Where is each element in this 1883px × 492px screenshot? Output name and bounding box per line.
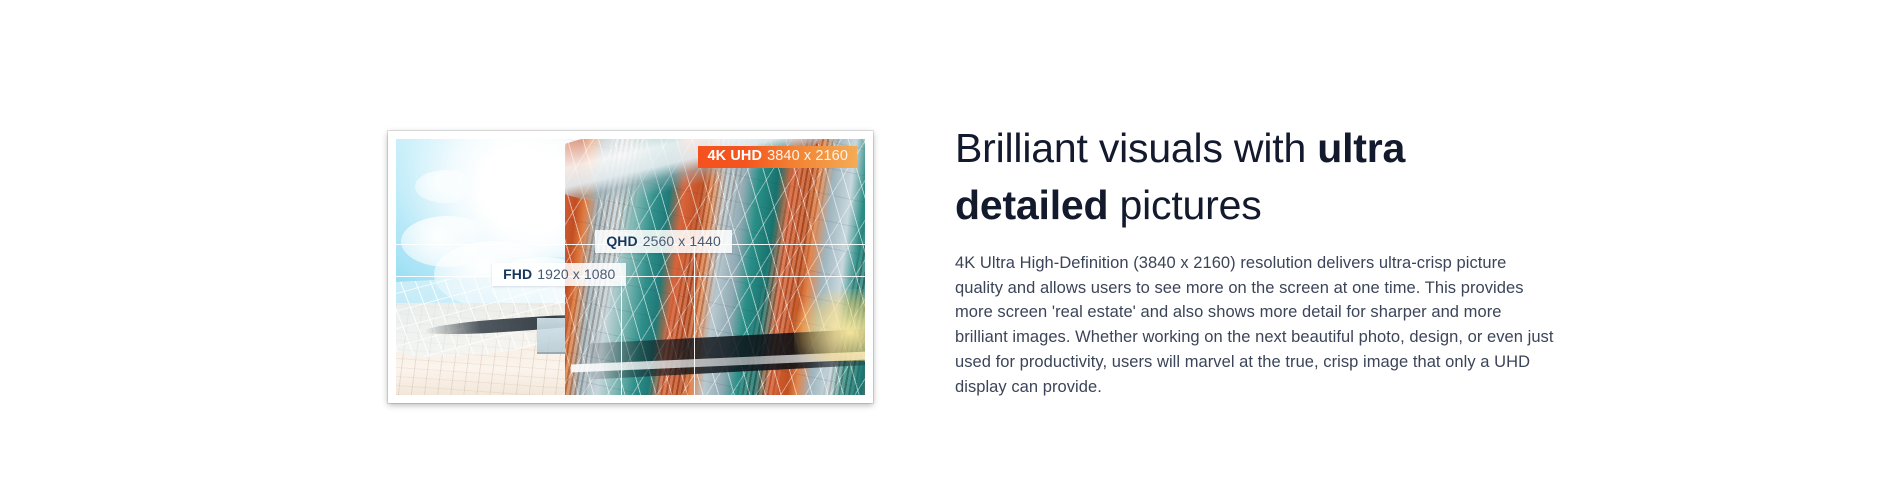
badge-qhd-label: QHD xyxy=(606,234,637,248)
badge-4k-uhd: 4K UHD 3840 x 2160 xyxy=(698,146,857,168)
building-warm-glow xyxy=(794,289,865,361)
badge-qhd: QHD 2560 x 1440 xyxy=(595,230,732,253)
badge-fhd: FHD 1920 x 1080 xyxy=(492,263,626,286)
resolution-photo-frame: 4K UHD 3840 x 2160 QHD 2560 x 1440 FHD 1… xyxy=(388,131,873,403)
headline-trail: pictures xyxy=(1108,182,1261,228)
resolution-photo: 4K UHD 3840 x 2160 QHD 2560 x 1440 FHD 1… xyxy=(396,139,865,395)
badge-4k-uhd-resolution: 3840 x 2160 xyxy=(767,149,848,164)
marketing-feature-section: 4K UHD 3840 x 2160 QHD 2560 x 1440 FHD 1… xyxy=(0,0,1883,492)
fhd-guide-rect xyxy=(396,276,865,277)
cloud xyxy=(415,170,476,203)
feature-headline: Brilliant visuals with ultra detailed pi… xyxy=(955,120,1555,235)
badge-4k-uhd-label: 4K UHD xyxy=(707,149,762,164)
feature-paragraph: 4K Ultra High-Definition (3840 x 2160) r… xyxy=(955,251,1555,400)
badge-fhd-label: FHD xyxy=(503,267,532,281)
feature-copy-column: Brilliant visuals with ultra detailed pi… xyxy=(955,120,1555,399)
fhd-guide-divider xyxy=(621,276,622,395)
headline-lead: Brilliant visuals with xyxy=(955,125,1317,171)
qhd-guide-divider xyxy=(694,244,695,395)
badge-qhd-resolution: 2560 x 1440 xyxy=(643,234,721,248)
badge-fhd-resolution: 1920 x 1080 xyxy=(537,267,615,281)
